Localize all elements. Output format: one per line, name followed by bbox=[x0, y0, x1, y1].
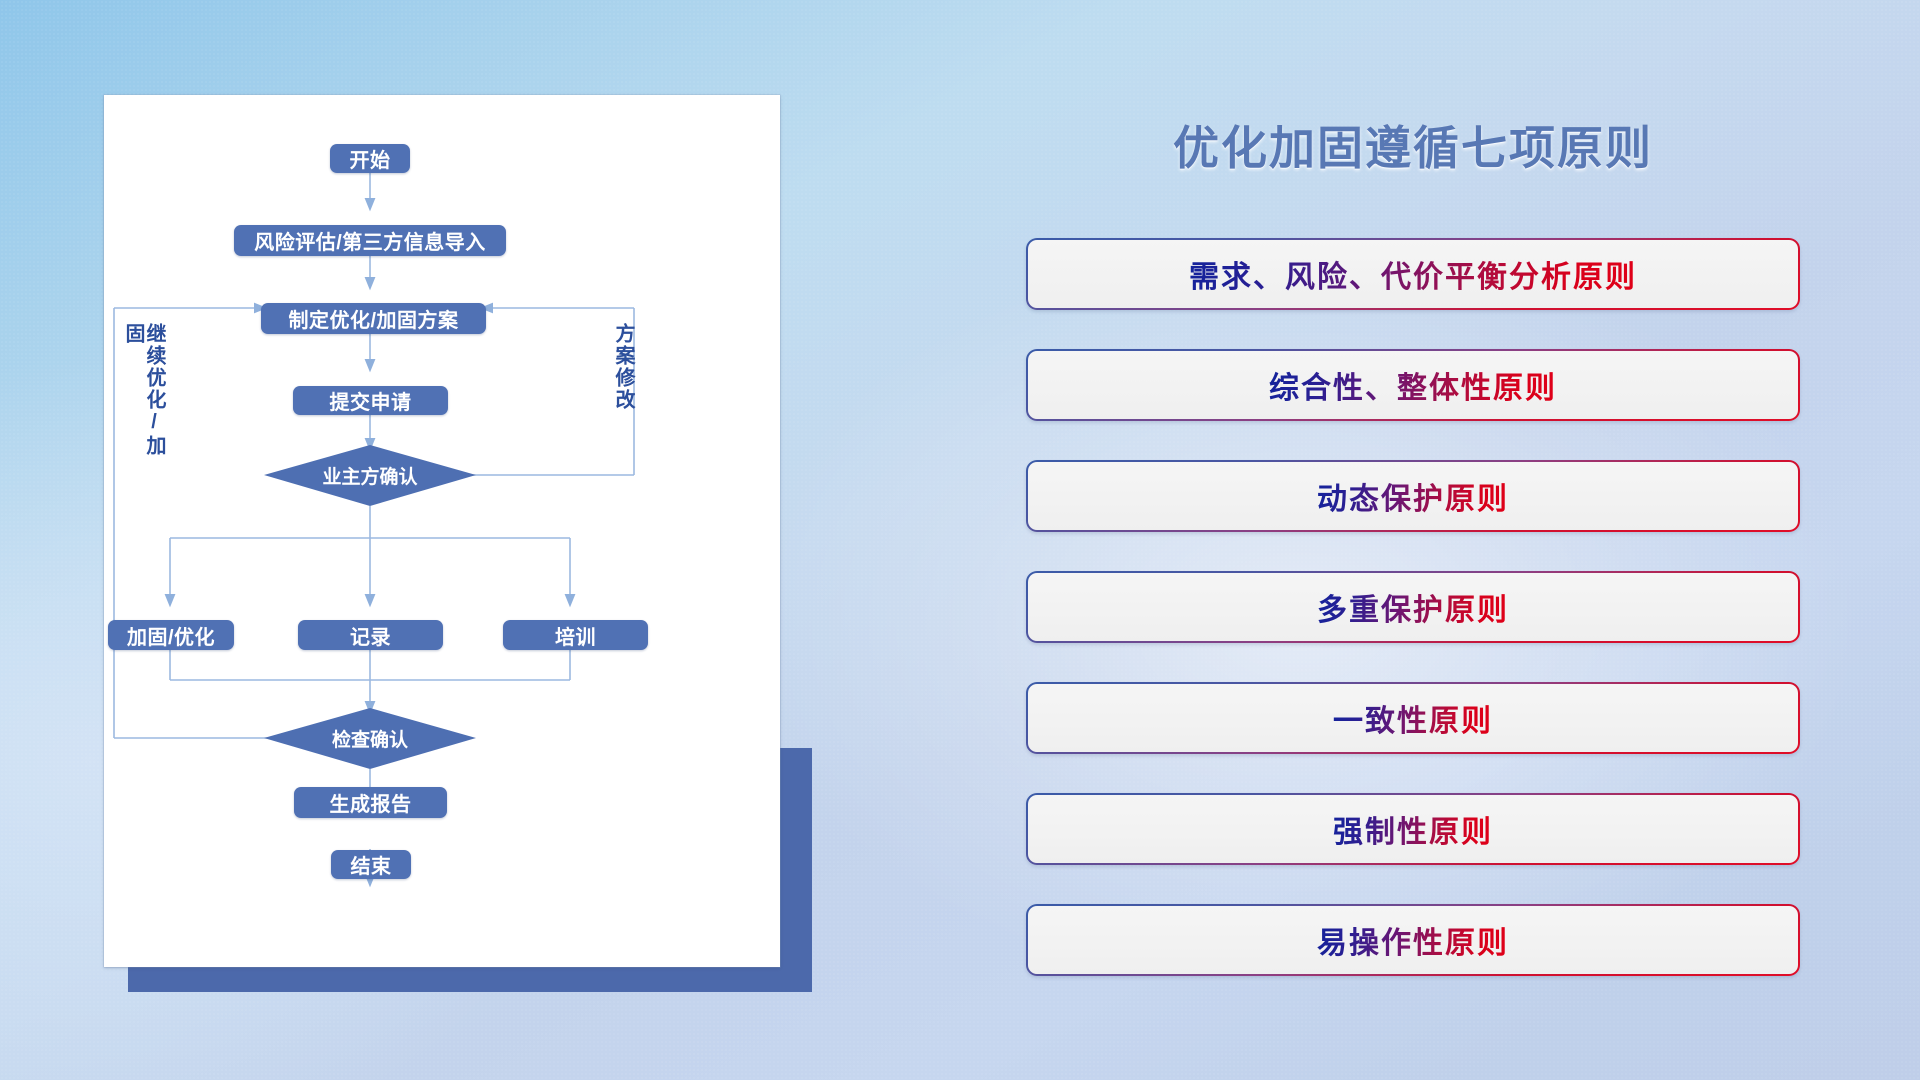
flow-node-label: 提交申请 bbox=[330, 386, 412, 415]
principle-card[interactable]: 强制性原则 bbox=[1026, 793, 1800, 865]
flow-node-owner-confirm[interactable]: 业主方确认 bbox=[300, 463, 440, 487]
principle-label: 强制性原则 bbox=[1333, 807, 1493, 851]
principle-card[interactable]: 多重保护原则 bbox=[1026, 571, 1800, 643]
flow-node-training[interactable]: 培训 bbox=[503, 620, 648, 650]
flow-node-label: 业主方确认 bbox=[322, 462, 417, 489]
flow-node-start[interactable]: 开始 bbox=[330, 144, 410, 173]
slide-canvas: 开始 风险评估/第三方信息导入 制定优化/加固方案 提交申请 业主方确认 加固/… bbox=[0, 0, 1920, 1080]
edge-label-continue-optimize: 继续优化/加固 bbox=[122, 323, 164, 463]
flow-node-plan[interactable]: 制定优化/加固方案 bbox=[261, 303, 486, 334]
flow-node-label: 加固/优化 bbox=[127, 621, 215, 650]
edge-label-text: 方案修改 bbox=[612, 323, 634, 411]
principle-label: 综合性、整体性原则 bbox=[1269, 363, 1557, 407]
flow-node-label: 记录 bbox=[350, 621, 391, 650]
principle-card[interactable]: 综合性、整体性原则 bbox=[1026, 349, 1800, 421]
flow-node-generate-report[interactable]: 生成报告 bbox=[294, 787, 447, 818]
principles-list: 需求、风险、代价平衡分析原则 综合性、整体性原则 动态保护原则 多重保护原则 一… bbox=[1026, 238, 1800, 976]
principle-card-inner: 需求、风险、代价平衡分析原则 bbox=[1028, 240, 1798, 308]
principle-label: 多重保护原则 bbox=[1317, 585, 1509, 629]
flow-node-end[interactable]: 结束 bbox=[331, 850, 411, 879]
flow-node-label: 检查确认 bbox=[332, 725, 408, 752]
flow-node-submit-application[interactable]: 提交申请 bbox=[293, 386, 448, 415]
flowchart-sheet: 开始 风险评估/第三方信息导入 制定优化/加固方案 提交申请 业主方确认 加固/… bbox=[104, 95, 780, 967]
principle-card[interactable]: 动态保护原则 bbox=[1026, 460, 1800, 532]
flow-node-label: 开始 bbox=[350, 144, 391, 173]
principle-label: 动态保护原则 bbox=[1317, 474, 1509, 518]
principle-label: 一致性原则 bbox=[1333, 696, 1493, 740]
flow-node-reinforce-optimize[interactable]: 加固/优化 bbox=[108, 620, 234, 650]
principle-card-inner: 一致性原则 bbox=[1028, 684, 1798, 752]
edge-label-text: 继续优化/加固 bbox=[122, 323, 165, 457]
principle-card[interactable]: 需求、风险、代价平衡分析原则 bbox=[1026, 238, 1800, 310]
principle-label: 需求、风险、代价平衡分析原则 bbox=[1189, 252, 1637, 296]
flowchart: 开始 风险评估/第三方信息导入 制定优化/加固方案 提交申请 业主方确认 加固/… bbox=[104, 95, 780, 967]
principle-card[interactable]: 一致性原则 bbox=[1026, 682, 1800, 754]
flow-node-label: 结束 bbox=[351, 850, 392, 879]
flow-node-check-confirm[interactable]: 检查确认 bbox=[304, 726, 436, 750]
flow-node-risk-assessment[interactable]: 风险评估/第三方信息导入 bbox=[234, 225, 506, 256]
flow-node-label: 生成报告 bbox=[330, 788, 412, 817]
principle-card-inner: 动态保护原则 bbox=[1028, 462, 1798, 530]
edge-label-plan-revision: 方案修改 bbox=[612, 323, 633, 423]
flow-node-label: 培训 bbox=[555, 621, 596, 650]
principle-label: 易操作性原则 bbox=[1317, 918, 1509, 962]
principle-card-inner: 综合性、整体性原则 bbox=[1028, 351, 1798, 419]
principle-card-inner: 多重保护原则 bbox=[1028, 573, 1798, 641]
principle-card[interactable]: 易操作性原则 bbox=[1026, 904, 1800, 976]
page-title: 优化加固遵循七项原则 bbox=[1026, 112, 1800, 178]
flow-node-record[interactable]: 记录 bbox=[298, 620, 443, 650]
flow-node-label: 制定优化/加固方案 bbox=[288, 304, 458, 333]
flow-node-label: 风险评估/第三方信息导入 bbox=[254, 226, 486, 255]
principle-card-inner: 强制性原则 bbox=[1028, 795, 1798, 863]
principle-card-inner: 易操作性原则 bbox=[1028, 906, 1798, 974]
